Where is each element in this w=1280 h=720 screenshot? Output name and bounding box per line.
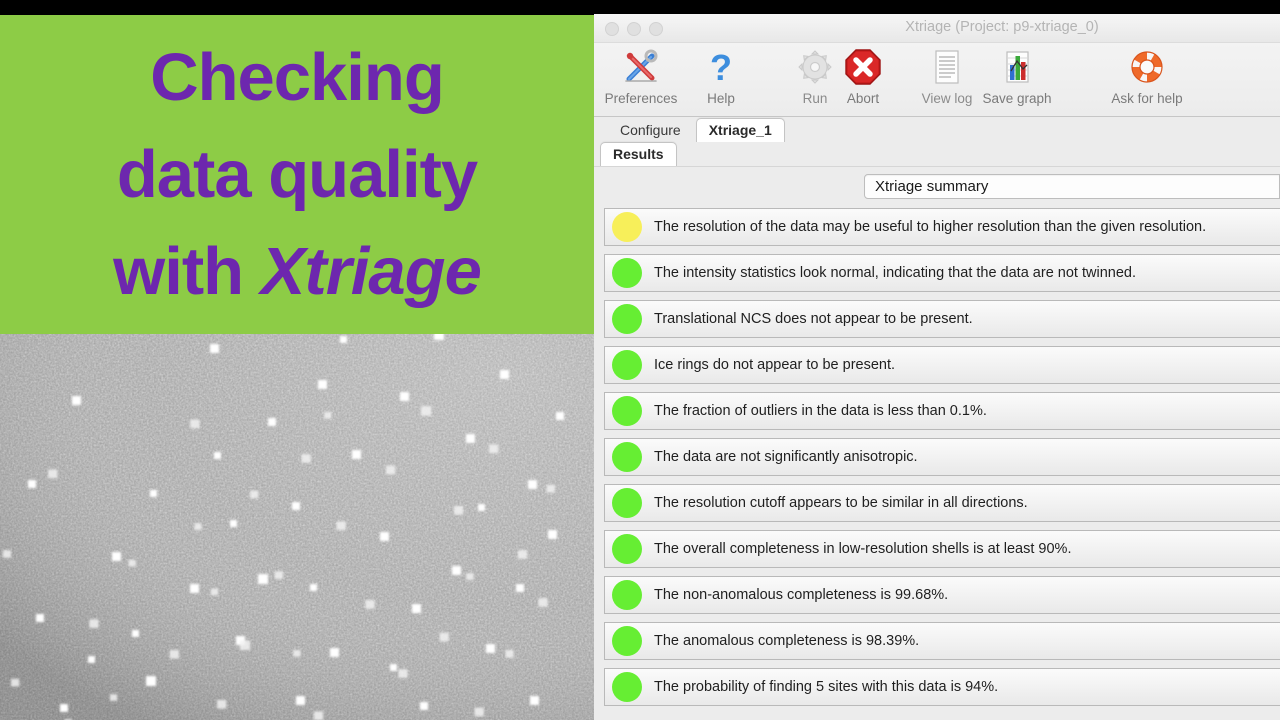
screenshot-root: Checking data quality with Xtriage [0, 0, 1280, 720]
tab-configure[interactable]: Configure [608, 119, 693, 142]
xtriage-app-window: Xtriage (Project: p9-xtriage_0) [594, 14, 1280, 720]
tab-results[interactable]: Results [600, 142, 677, 166]
result-row[interactable]: The overall completeness in low-resoluti… [604, 530, 1280, 568]
status-indicator-green [612, 488, 642, 518]
presentation-slide-panel: Checking data quality with Xtriage [0, 15, 594, 720]
toolbar-button-help[interactable]: ? Help [678, 45, 764, 106]
result-text: The probability of finding 5 sites with … [654, 679, 998, 695]
result-row[interactable]: The anomalous completeness is 98.39%. [604, 622, 1280, 660]
slide-title-line-2: data quality [117, 126, 477, 223]
result-row[interactable]: The non-anomalous completeness is 99.68%… [604, 576, 1280, 614]
bar-chart-icon [997, 45, 1037, 89]
status-indicator-green [612, 672, 642, 702]
tab-xtriage-1[interactable]: Xtriage_1 [696, 118, 785, 142]
result-text: The resolution cutoff appears to be simi… [654, 495, 1028, 511]
result-row[interactable]: The fraction of outliers in the data is … [604, 392, 1280, 430]
slide-title-line-1: Checking [150, 29, 444, 126]
summary-selector-row: Xtriage summary [594, 167, 1280, 205]
status-indicator-green [612, 258, 642, 288]
results-list[interactable]: The resolution of the data may be useful… [594, 205, 1280, 720]
result-text: The overall completeness in low-resoluti… [654, 541, 1071, 557]
status-indicator-green [612, 350, 642, 380]
result-row[interactable]: The intensity statistics look normal, in… [604, 254, 1280, 292]
result-text: The resolution of the data may be useful… [654, 219, 1206, 235]
summary-select[interactable]: Xtriage summary [864, 174, 1280, 199]
result-text: The fraction of outliers in the data is … [654, 403, 987, 419]
window-titlebar: Xtriage (Project: p9-xtriage_0) [594, 14, 1280, 43]
slide-title-line-3-prefix: with [113, 234, 261, 309]
toolbar-label-abort: Abort [847, 91, 879, 106]
lifebuoy-icon [1127, 45, 1167, 89]
status-indicator-green [612, 442, 642, 472]
result-row[interactable]: The probability of finding 5 sites with … [604, 668, 1280, 706]
slide-title-tool-name: Xtriage [261, 234, 481, 309]
result-row[interactable]: Ice rings do not appear to be present. [604, 346, 1280, 384]
abort-stop-icon [843, 45, 883, 89]
result-row[interactable]: Translational NCS does not appear to be … [604, 300, 1280, 338]
toolbar-label-save-graph: Save graph [982, 91, 1051, 106]
slide-title-card: Checking data quality with Xtriage [0, 15, 594, 334]
toolbar-button-save-graph[interactable]: Save graph [974, 45, 1060, 106]
status-indicator-yellow [612, 212, 642, 242]
result-text: The non-anomalous completeness is 99.68%… [654, 587, 948, 603]
result-row[interactable]: The resolution of the data may be useful… [604, 208, 1280, 246]
sub-tabbar: Results [594, 142, 1280, 167]
result-text: The anomalous completeness is 98.39%. [654, 633, 919, 649]
status-indicator-green [612, 626, 642, 656]
slide-title-line-3: with Xtriage [113, 223, 481, 320]
result-text: The intensity statistics look normal, in… [654, 265, 1136, 281]
toolbar-label-help: Help [707, 91, 735, 106]
toolbar-label-view-log: View log [922, 91, 973, 106]
question-mark-icon: ? [701, 45, 741, 89]
status-indicator-green [612, 534, 642, 564]
preferences-tools-icon [621, 45, 661, 89]
main-toolbar: Preferences ? Help [594, 43, 1280, 117]
status-indicator-green [612, 396, 642, 426]
diffraction-pattern-svg [0, 334, 594, 720]
result-text: Ice rings do not appear to be present. [654, 357, 895, 373]
status-indicator-green [612, 580, 642, 610]
status-indicator-green [612, 304, 642, 334]
toolbar-button-abort[interactable]: Abort [820, 45, 906, 106]
toolbar-label-preferences: Preferences [605, 91, 678, 106]
svg-text:?: ? [710, 47, 732, 87]
result-row[interactable]: The resolution cutoff appears to be simi… [604, 484, 1280, 522]
result-text: Translational NCS does not appear to be … [654, 311, 973, 327]
main-tabbar: Configure Xtriage_1 [594, 117, 1280, 142]
window-title: Xtriage (Project: p9-xtriage_0) [594, 19, 1280, 35]
result-row[interactable]: The data are not significantly anisotrop… [604, 438, 1280, 476]
summary-select-value: Xtriage summary [875, 178, 988, 195]
document-log-icon [927, 45, 967, 89]
toolbar-label-ask-for-help: Ask for help [1111, 91, 1182, 106]
result-text: The data are not significantly anisotrop… [654, 449, 918, 465]
diffraction-image [0, 334, 594, 720]
toolbar-button-ask-for-help[interactable]: Ask for help [1104, 45, 1190, 106]
toolbar-button-preferences[interactable]: Preferences [598, 45, 684, 106]
